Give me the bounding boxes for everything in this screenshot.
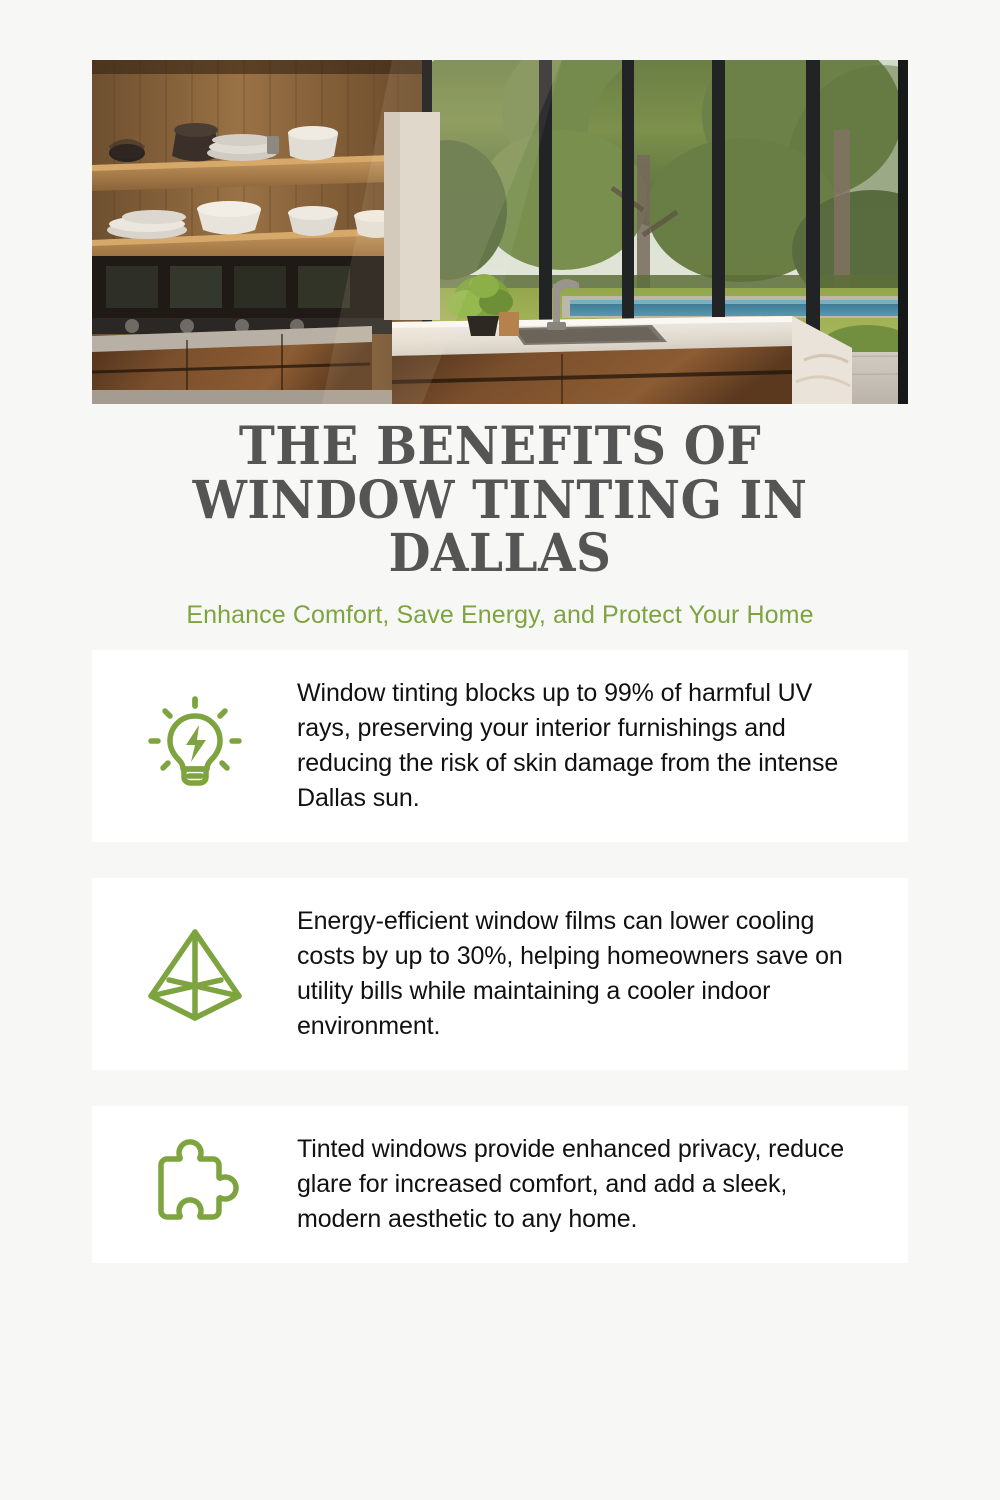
infographic-page: THE BENEFITS OF WINDOW TINTING IN DALLAS… (0, 0, 1000, 1500)
puzzle-piece-icon (143, 1133, 247, 1237)
lightbulb-bolt-icon (143, 694, 247, 798)
page-title: THE BENEFITS OF WINDOW TINTING IN DALLAS (121, 420, 880, 581)
benefit-card-energy-savings: Energy-efficient window films can lower … (92, 878, 908, 1070)
benefit-text: Tinted windows provide enhanced privacy,… (297, 1132, 868, 1237)
wireframe-pyramid-icon (143, 922, 247, 1026)
header-block: THE BENEFITS OF WINDOW TINTING IN DALLAS… (92, 420, 908, 630)
page-subtitle: Enhance Comfort, Save Energy, and Protec… (92, 601, 908, 630)
card-icon-wrap (92, 922, 297, 1026)
hero-image (92, 60, 908, 404)
card-icon-wrap (92, 1133, 297, 1237)
benefits-card-list: Window tinting blocks up to 99% of harmf… (92, 650, 908, 1263)
hero-illustration (92, 60, 908, 404)
benefit-text: Window tinting blocks up to 99% of harmf… (297, 676, 868, 816)
benefit-card-uv-protection: Window tinting blocks up to 99% of harmf… (92, 650, 908, 842)
benefit-text: Energy-efficient window films can lower … (297, 904, 868, 1044)
card-icon-wrap (92, 694, 297, 798)
benefit-card-privacy-aesthetics: Tinted windows provide enhanced privacy,… (92, 1106, 908, 1263)
